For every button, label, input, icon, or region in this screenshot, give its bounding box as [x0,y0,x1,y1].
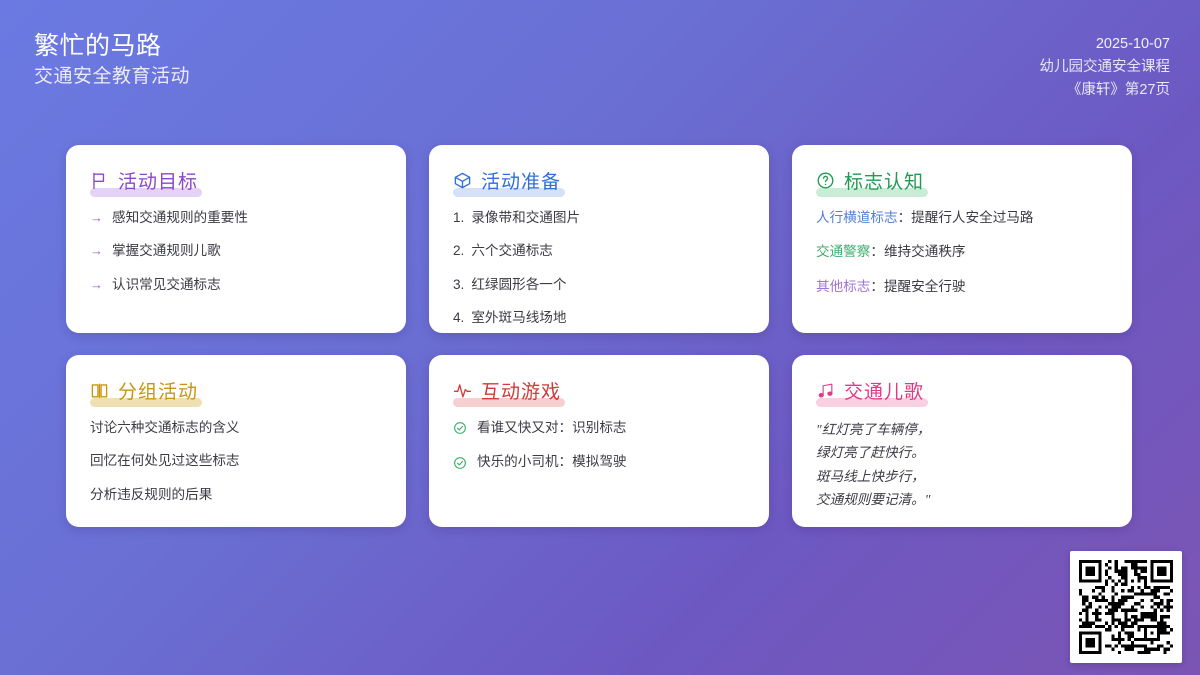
list-number: 2. [453,241,464,261]
card-title: 分组活动 [118,377,198,404]
card-header: 活动准备 [453,167,561,194]
term-description: ：提醒行人安全过马路 [898,210,1034,225]
list-item-label: 回忆在何处见过这些标志 [90,451,240,471]
list-number: 3. [453,275,464,295]
card-title: 活动准备 [481,167,561,194]
page-header: 繁忙的马路 交通安全教育活动 2025-10-07 幼儿园交通安全课程 《康轩》… [0,0,1200,128]
card-title: 活动目标 [118,167,198,194]
list-item: 看谁又快又对：识别标志 [453,418,745,438]
card-activity-goals: 活动目标→感知交通规则的重要性→掌握交通规则儿歌→认识常见交通标志 [66,145,406,333]
card-header: 互动游戏 [453,377,561,404]
header-meta: 2025-10-07 幼儿园交通安全课程 《康轩》第27页 [1040,33,1171,102]
music-note-icon [816,381,835,400]
lyric-line: 斑马线上快步行， [816,465,1108,488]
list-item-label: 感知交通规则的重要性 [112,208,248,228]
list-number: 1. [453,208,464,228]
term-label: 其他标志 [816,279,870,294]
question-circle-icon [816,171,835,190]
list-item: 4.室外斑马线场地 [453,308,745,328]
term-row: 交通警察：维持交通秩序 [816,242,1108,262]
open-book-icon [90,381,109,400]
card-header: 活动目标 [90,167,198,194]
list-item: →掌握交通规则儿歌 [90,241,382,261]
list-item: 快乐的小司机：模拟驾驶 [453,452,745,472]
card-header: 交通儿歌 [816,377,924,404]
card-title: 互动游戏 [481,377,561,404]
card-header: 分组活动 [90,377,198,404]
card-group-activity: 分组活动讨论六种交通标志的含义回忆在何处见过这些标志分析违反规则的后果 [66,355,406,527]
card-traffic-song: 交通儿歌"红灯亮了车辆停，绿灯亮了赶快行。斑马线上快步行，交通规则要记清。" [792,355,1132,527]
list-item: →认识常见交通标志 [90,275,382,295]
game-list: 看谁又快又对：识别标志快乐的小司机：模拟驾驶 [453,418,745,487]
song-lyrics: "红灯亮了车辆停，绿灯亮了赶快行。斑马线上快步行，交通规则要记清。" [816,418,1108,512]
term-row: 人行横道标志：提醒行人安全过马路 [816,208,1108,228]
qr-code[interactable] [1070,551,1182,663]
card-grid: 活动目标→感知交通规则的重要性→掌握交通规则儿歌→认识常见交通标志活动准备1.录… [66,145,1134,527]
list-item: 1.录像带和交通图片 [453,208,745,228]
term-label: 人行横道标志 [816,210,898,225]
package-icon [453,171,472,190]
check-circle-icon [453,456,467,470]
list-item: 分析违反规则的后果 [90,485,382,505]
list-item-label: 红绿圆形各一个 [471,275,566,295]
list-item-label: 看谁又快又对：识别标志 [477,418,627,438]
list-number: 4. [453,308,464,328]
list-item: 讨论六种交通标志的含义 [90,418,382,438]
list-item-label: 室外斑马线场地 [471,308,566,328]
list-item: 2.六个交通标志 [453,241,745,261]
qr-code-image [1079,560,1173,654]
list-item-label: 六个交通标志 [471,241,553,261]
list-item: 3.红绿圆形各一个 [453,275,745,295]
list-item-label: 快乐的小司机：模拟驾驶 [477,452,627,472]
pulse-icon [453,381,472,400]
list-item-label: 掌握交通规则儿歌 [112,241,221,261]
check-circle-icon [453,421,467,435]
goal-list: →感知交通规则的重要性→掌握交通规则儿歌→认识常见交通标志 [90,208,382,308]
list-item: 回忆在何处见过这些标志 [90,451,382,471]
page-title: 繁忙的马路 [34,30,190,63]
arrow-icon: → [90,275,103,295]
card-activity-preparation: 活动准备1.录像带和交通图片2.六个交通标志3.红绿圆形各一个4.室外斑马线场地 [429,145,769,333]
list-item-label: 认识常见交通标志 [112,275,221,295]
list-item: →感知交通规则的重要性 [90,208,382,228]
card-title: 标志认知 [844,167,924,194]
term-description: ：维持交通秩序 [870,244,965,259]
arrow-icon: → [90,241,103,261]
meta-source: 《康轩》第27页 [1040,79,1171,102]
list-item-label: 讨论六种交通标志的含义 [90,418,240,438]
preparation-list: 1.录像带和交通图片2.六个交通标志3.红绿圆形各一个4.室外斑马线场地 [453,208,745,333]
card-sign-recognition: 标志认知人行横道标志：提醒行人安全过马路交通警察：维持交通秩序其他标志：提醒安全… [792,145,1132,333]
card-interactive-games: 互动游戏看谁又快又对：识别标志快乐的小司机：模拟驾驶 [429,355,769,527]
lyric-line: "红灯亮了车辆停， [816,418,1108,441]
title-block: 繁忙的马路 交通安全教育活动 [34,30,190,90]
flag-icon [90,171,109,190]
lyric-line: 交通规则要记清。" [816,488,1108,511]
term-description: ：提醒安全行驶 [870,279,965,294]
term-row: 其他标志：提醒安全行驶 [816,277,1108,297]
card-title: 交通儿歌 [844,377,924,404]
list-item-label: 录像带和交通图片 [471,208,580,228]
list-item-label: 分析违反规则的后果 [90,485,212,505]
lyric-line: 绿灯亮了赶快行。 [816,441,1108,464]
term-list: 人行横道标志：提醒行人安全过马路交通警察：维持交通秩序其他标志：提醒安全行驶 [816,208,1108,311]
meta-date: 2025-10-07 [1040,33,1171,56]
discussion-list: 讨论六种交通标志的含义回忆在何处见过这些标志分析违反规则的后果 [90,418,382,518]
arrow-icon: → [90,208,103,228]
page-subtitle: 交通安全教育活动 [34,63,190,91]
meta-course: 幼儿园交通安全课程 [1040,56,1171,79]
term-label: 交通警察 [816,244,870,259]
card-header: 标志认知 [816,167,924,194]
